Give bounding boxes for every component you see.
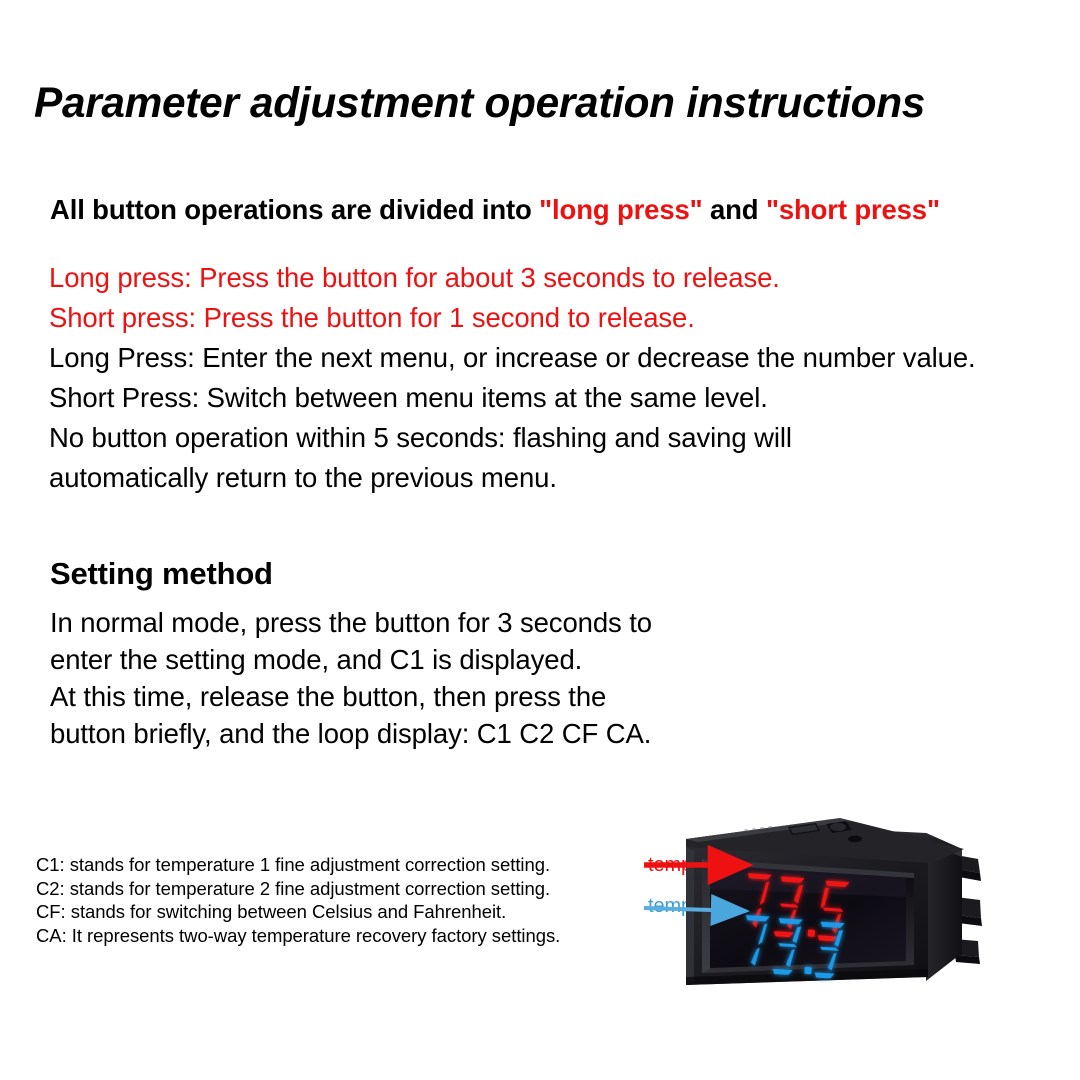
rule-long-press-action: Long Press: Enter the next menu, or incr… (49, 338, 1049, 378)
setting-line-3: At this time, release the button, then p… (50, 678, 770, 715)
decimal-point-red (808, 929, 815, 936)
rule-long-press-duration: Long press: Press the button for about 3… (49, 258, 1049, 298)
legend-item-ca: CA: It represents two-way temperature re… (36, 924, 676, 948)
decimal-point-blue (804, 967, 811, 974)
bezel-inner-lip-left-light (702, 859, 710, 973)
menu-code-legend: C1: stands for temperature 1 fine adjust… (36, 853, 676, 947)
subtitle-part1: All button operations are divided into (50, 194, 539, 225)
rule-short-press-action: Short Press: Switch between menu items a… (49, 378, 1049, 418)
rule-timeout-line1: No button operation within 5 seconds: fl… (49, 418, 1049, 458)
setting-line-1: In normal mode, press the button for 3 s… (50, 604, 770, 641)
top-vent-slot (848, 836, 862, 843)
subtitle-part2: and (703, 194, 766, 225)
legend-item-c2: C2: stands for temperature 2 fine adjust… (36, 877, 676, 901)
rule-short-press-duration: Short press: Press the button for 1 seco… (49, 298, 1049, 338)
setting-method-heading: Setting method (50, 556, 273, 592)
setting-line-2: enter the setting mode, and C1 is displa… (50, 641, 770, 678)
subtitle-long-press: "long press" (539, 194, 702, 225)
legend-item-cf: CF: stands for switching between Celsius… (36, 900, 676, 924)
dual-temperature-meter-illustration (640, 805, 1080, 1005)
subtitle-line: All button operations are divided into "… (50, 194, 940, 226)
setting-method-body: In normal mode, press the button for 3 s… (50, 604, 770, 752)
device-figure: temperature 1 temperature 2 (640, 805, 1080, 1005)
subtitle-short-press: "short press" (766, 194, 940, 225)
page-title: Parameter adjustment operation instructi… (34, 82, 1039, 125)
setting-line-4: button briefly, and the loop display: C1… (50, 715, 770, 752)
rule-timeout-line2: automatically return to the previous men… (49, 458, 1049, 498)
press-rules-list: Long press: Press the button for about 3… (49, 258, 1049, 498)
legend-item-c1: C1: stands for temperature 1 fine adjust… (36, 853, 676, 877)
